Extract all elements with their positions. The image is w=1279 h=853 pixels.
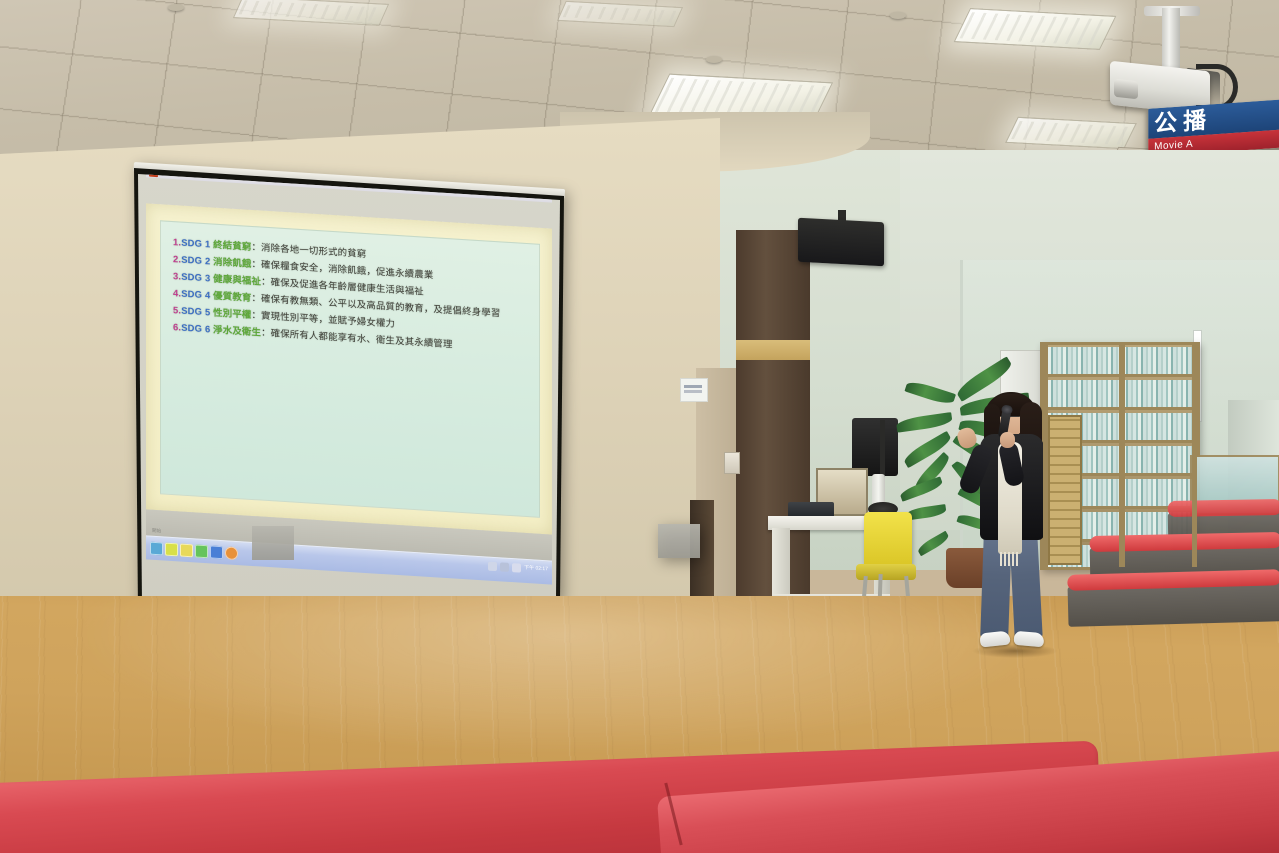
- projector-mount-pole: [1162, 8, 1180, 70]
- show-desktop-icon[interactable]: [150, 542, 163, 556]
- bullet-code: SDG 6: [181, 322, 213, 335]
- bullet-goal-name: 健康與福祉: [213, 273, 261, 287]
- screen-side-tab: [658, 524, 700, 558]
- bullet-code: SDG 5: [181, 305, 213, 318]
- card-catalogue-rack: [1048, 415, 1082, 565]
- media-icon[interactable]: [195, 544, 208, 558]
- slide-canvas: 1.SDG 1 終結貧窮：消除各地一切形式的貧窮 2.SDG 2 消除飢餓：確保…: [146, 203, 552, 534]
- light-switch-icon[interactable]: [724, 452, 740, 474]
- smoke-detector-icon: [168, 4, 184, 11]
- browser-icon[interactable]: [165, 543, 178, 557]
- ceiling-projector: [1100, 8, 1240, 118]
- bullet-goal-name: 性別平權: [213, 307, 251, 320]
- seat-cushion: [1168, 499, 1279, 517]
- seat-cushion: [1089, 532, 1279, 552]
- projection-screen: P SDGs永續發展目標.pptx - PowerPoint 1.SDG 1 終…: [128, 160, 566, 612]
- tiered-seat-platform: [1068, 581, 1279, 627]
- bullet-goal-name: 淨水及衛生: [213, 324, 261, 338]
- bullet-number: 1.: [173, 236, 181, 248]
- ceiling-speaker-icon: [798, 218, 884, 267]
- smoke-detector-icon: [890, 12, 906, 19]
- bullet-number: 4.: [173, 287, 181, 299]
- volume-icon[interactable]: [210, 545, 223, 559]
- bullet-code: SDG 3: [181, 271, 213, 284]
- pillar-accent-band: [736, 340, 810, 360]
- screen-side-tab: [252, 526, 294, 560]
- shelf-divider: [1119, 345, 1125, 567]
- volume-tray-icon[interactable]: [500, 562, 509, 572]
- screen-surface: P SDGs永續發展目標.pptx - PowerPoint 1.SDG 1 終…: [138, 174, 560, 604]
- smoke-detector-icon: [706, 56, 722, 63]
- slide-content-panel: 1.SDG 1 終結貧窮：消除各地一切形式的貧窮 2.SDG 2 消除飢餓：確保…: [160, 220, 540, 518]
- system-tray[interactable]: 下午 02:17: [488, 562, 548, 575]
- presenter-hand-right: [1000, 432, 1015, 448]
- bullet-goal-name: 終結貧窮: [213, 239, 251, 252]
- shelf-post: [1192, 345, 1197, 567]
- wall-notice-sheet: [680, 378, 708, 402]
- quick-launch-bar[interactable]: [146, 541, 238, 560]
- bullet-number: 5.: [173, 304, 181, 316]
- chair-backrest: [864, 512, 912, 570]
- bullet-goal-name: 消除飢餓: [213, 256, 251, 269]
- room-sign: 公播 Movie A: [1148, 99, 1279, 157]
- bullet-goal-name: 優質教育: [213, 290, 251, 303]
- presenter-shoe: [1013, 631, 1044, 648]
- app-icon[interactable]: [225, 546, 238, 560]
- folder-icon[interactable]: [180, 544, 193, 558]
- taskbar-clock[interactable]: 下午 02:17: [524, 564, 548, 574]
- network-icon[interactable]: [488, 562, 497, 572]
- bullet-number: 2.: [173, 253, 181, 265]
- bullet-code: SDG 2: [181, 254, 213, 267]
- lecture-hall-photo: 公播 Movie A: [0, 0, 1279, 853]
- bullet-number: 6.: [173, 321, 181, 333]
- bullet-code: SDG 1: [181, 237, 213, 250]
- projected-desktop: P SDGs永續發展目標.pptx - PowerPoint 1.SDG 1 終…: [138, 174, 560, 604]
- start-button-label[interactable]: 開始: [152, 528, 161, 535]
- shield-icon[interactable]: [512, 563, 521, 573]
- projector-lens-icon: [1114, 79, 1138, 100]
- bullet-code: SDG 4: [181, 288, 213, 301]
- bullet-number: 3.: [173, 270, 181, 282]
